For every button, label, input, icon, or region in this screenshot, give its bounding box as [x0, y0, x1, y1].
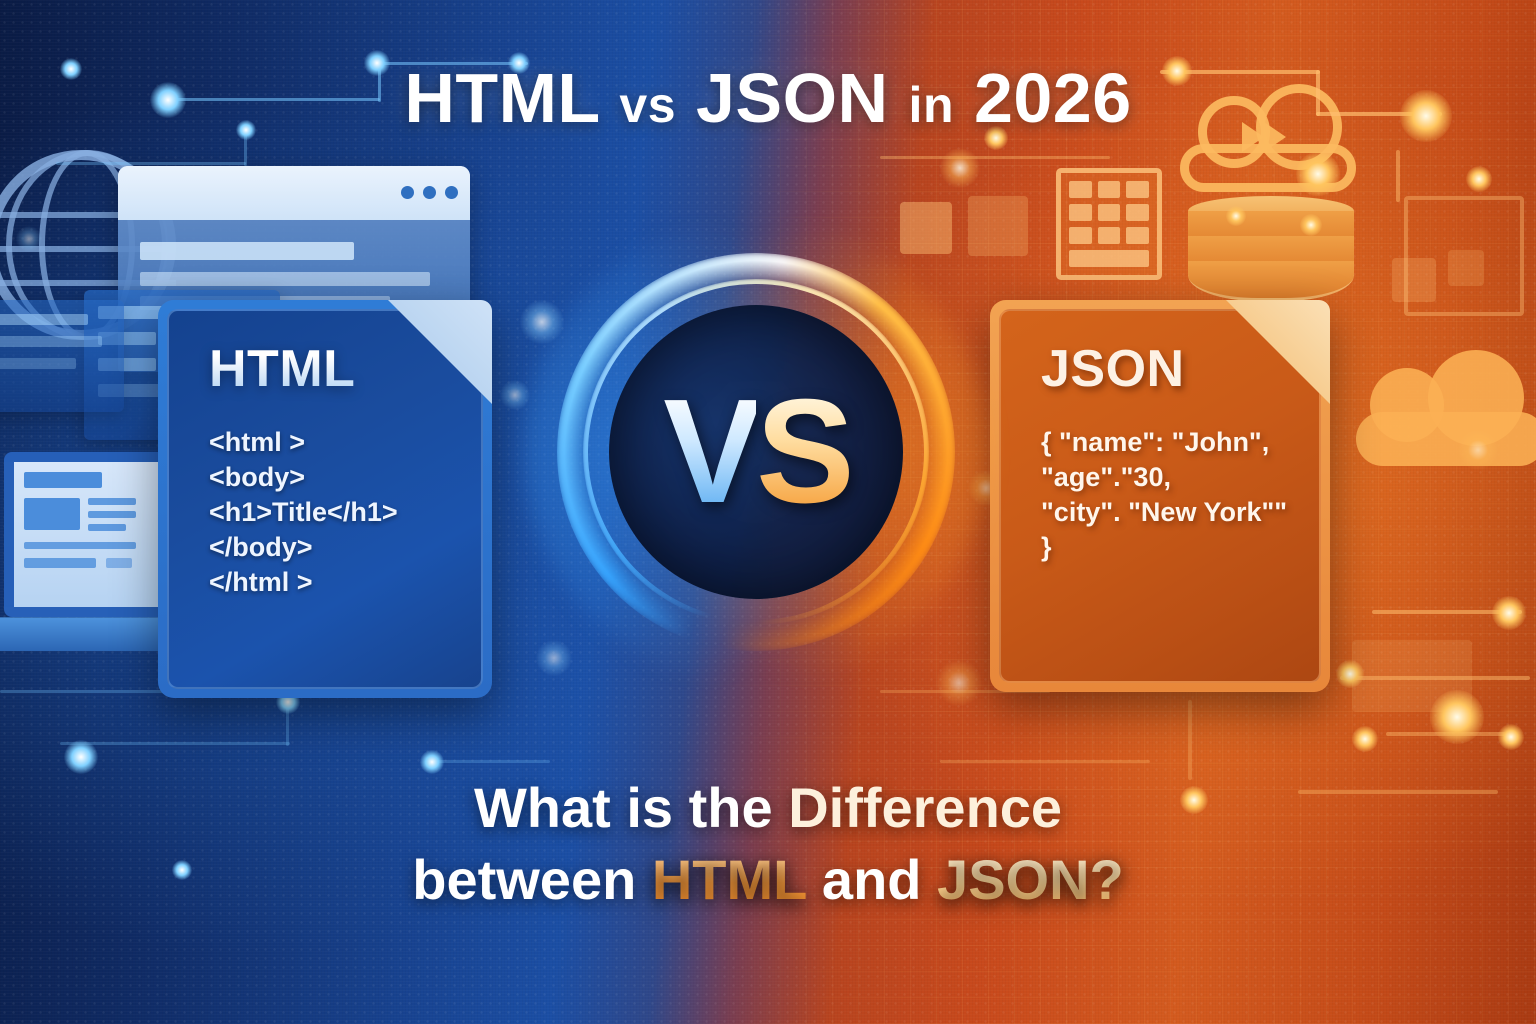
wireframe-panel [0, 300, 124, 412]
json-card-title: JSON [1041, 339, 1293, 399]
page-title: HTML vs JSON in 2026 [0, 58, 1536, 138]
json-code-line: "age"."30, [1041, 460, 1293, 495]
html-code-line: </body> [209, 530, 455, 565]
browser-dot [401, 186, 414, 199]
decor-square [1448, 250, 1484, 286]
html-code-line: <html > [209, 425, 455, 460]
spreadsheet-icon [1056, 168, 1162, 280]
subtitle-difference: Difference [788, 776, 1062, 839]
cloud-icon [1356, 350, 1536, 468]
subtitle-what-is-the: What is the [474, 776, 773, 839]
decor-square [1404, 196, 1524, 316]
subtitle-line-2: between HTML and JSON? [0, 844, 1536, 916]
subtitle-between: between [412, 848, 636, 911]
title-in: in [909, 77, 954, 133]
browser-dot [423, 186, 436, 199]
decor-square [1392, 258, 1436, 302]
globe-icon [0, 150, 176, 340]
subtitle-line-1: What is the Difference [0, 772, 1536, 844]
title-part-html: HTML [404, 59, 599, 137]
subtitle-json: JSON? [937, 848, 1124, 911]
json-code-block: { "name": "John", "age"."30, "city". "Ne… [1041, 425, 1293, 565]
json-card-inner: JSON { "name": "John", "age"."30, "city"… [999, 309, 1321, 683]
html-code-line: </html > [209, 565, 455, 600]
decor-square [900, 202, 952, 254]
vs-letter-s: S [756, 378, 849, 526]
vs-badge: VS [557, 253, 955, 651]
html-code-card[interactable]: HTML <html > <body> <h1>Title</h1> </bod… [158, 300, 492, 698]
html-card-title: HTML [209, 339, 455, 399]
subtitle-and: and [822, 848, 922, 911]
title-year: 2026 [974, 59, 1132, 137]
html-code-block: <html > <body> <h1>Title</h1> </body> </… [209, 425, 455, 600]
subtitle-block: What is the Difference between HTML and … [0, 772, 1536, 915]
decor-square [1352, 640, 1472, 712]
html-code-line: <h1>Title</h1> [209, 495, 455, 530]
json-code-card[interactable]: JSON { "name": "John", "age"."30, "city"… [990, 300, 1330, 692]
poster-canvas: HTML vs JSON in 2026 HTML <html > <body>… [0, 0, 1536, 1024]
browser-dot [445, 186, 458, 199]
json-code-line: "city". "New York"" [1041, 495, 1293, 530]
decor-square [968, 196, 1028, 256]
browser-titlebar [118, 166, 470, 220]
vs-label: VS [557, 253, 955, 651]
vs-letter-v: V [663, 378, 756, 526]
json-code-line: } [1041, 530, 1293, 565]
title-vs: vs [619, 77, 676, 133]
json-code-line: { "name": "John", [1041, 425, 1293, 460]
subtitle-html: HTML [652, 848, 807, 911]
title-part-json: JSON [696, 59, 889, 137]
html-card-inner: HTML <html > <body> <h1>Title</h1> </bod… [167, 309, 483, 689]
html-code-line: <body> [209, 460, 455, 495]
